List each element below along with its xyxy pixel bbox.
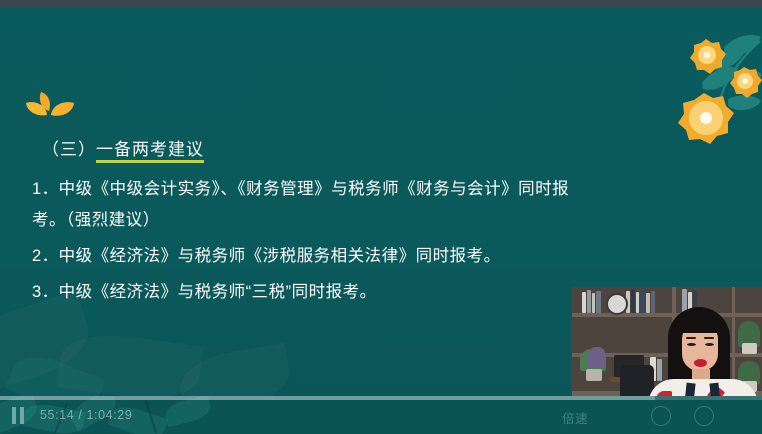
book <box>636 292 639 313</box>
plant-pot <box>742 343 757 354</box>
mouth <box>694 359 707 367</box>
sprout-icon <box>22 85 78 131</box>
plant-pot <box>586 369 602 381</box>
video-player-controls[interactable]: 55:14 / 1:04:29 倍速 <box>0 396 762 434</box>
playback-speed-button[interactable]: 倍速 <box>562 408 588 427</box>
book <box>657 359 662 381</box>
video-player-stage: （三）一备两考建议 1．中级《中级会计实务》、《财务管理》与税务师《财务与会计》… <box>0 0 762 434</box>
progress-bar-track[interactable] <box>0 396 762 400</box>
book <box>587 290 591 313</box>
floral-branch-decoration <box>632 7 762 147</box>
book <box>646 293 650 313</box>
time-display: 55:14 / 1:04:29 <box>40 408 132 422</box>
background-leaf-watermark <box>176 343 294 396</box>
shelf-upright <box>732 287 735 393</box>
heading-underlined-text: 一备两考建议 <box>96 140 204 163</box>
decorative-stem <box>145 401 157 434</box>
settings-icon[interactable] <box>694 406 714 426</box>
decorative-leaf <box>163 396 213 427</box>
background-leaf-watermark <box>0 290 98 394</box>
background-leaf-watermark <box>5 347 105 396</box>
potted-plant <box>588 347 606 367</box>
slide-body-line: 3．中级《经济法》与税务师“三税”同时报考。 <box>32 278 377 302</box>
slide-body-line: 2．中级《经济法》与税务师《涉税服务相关法律》同时报考。 <box>32 242 501 266</box>
eye <box>687 343 696 346</box>
eyebrow <box>686 337 696 339</box>
book <box>640 290 645 313</box>
book <box>651 291 655 313</box>
fullscreen-icon[interactable] <box>651 406 671 426</box>
book <box>582 292 586 313</box>
book <box>592 293 595 313</box>
book <box>631 289 635 313</box>
wall-clock <box>606 293 628 315</box>
progress-bar-fill <box>0 396 655 400</box>
eye <box>705 343 714 346</box>
slide-heading: （三）一备两考建议 <box>42 135 204 160</box>
heading-prefix: （三） <box>42 140 96 159</box>
book <box>596 291 601 313</box>
slide-body-line: 考。（强烈建议） <box>32 206 160 230</box>
top-bezel-strip <box>0 0 762 7</box>
hair-front <box>678 309 724 333</box>
slide-body-line: 1．中级《中级会计实务》、《财务管理》与税务师《财务与会计》同时报 <box>32 175 569 199</box>
pause-icon[interactable] <box>12 407 28 424</box>
eyebrow <box>704 337 714 339</box>
background-leaf-watermark <box>57 328 204 396</box>
